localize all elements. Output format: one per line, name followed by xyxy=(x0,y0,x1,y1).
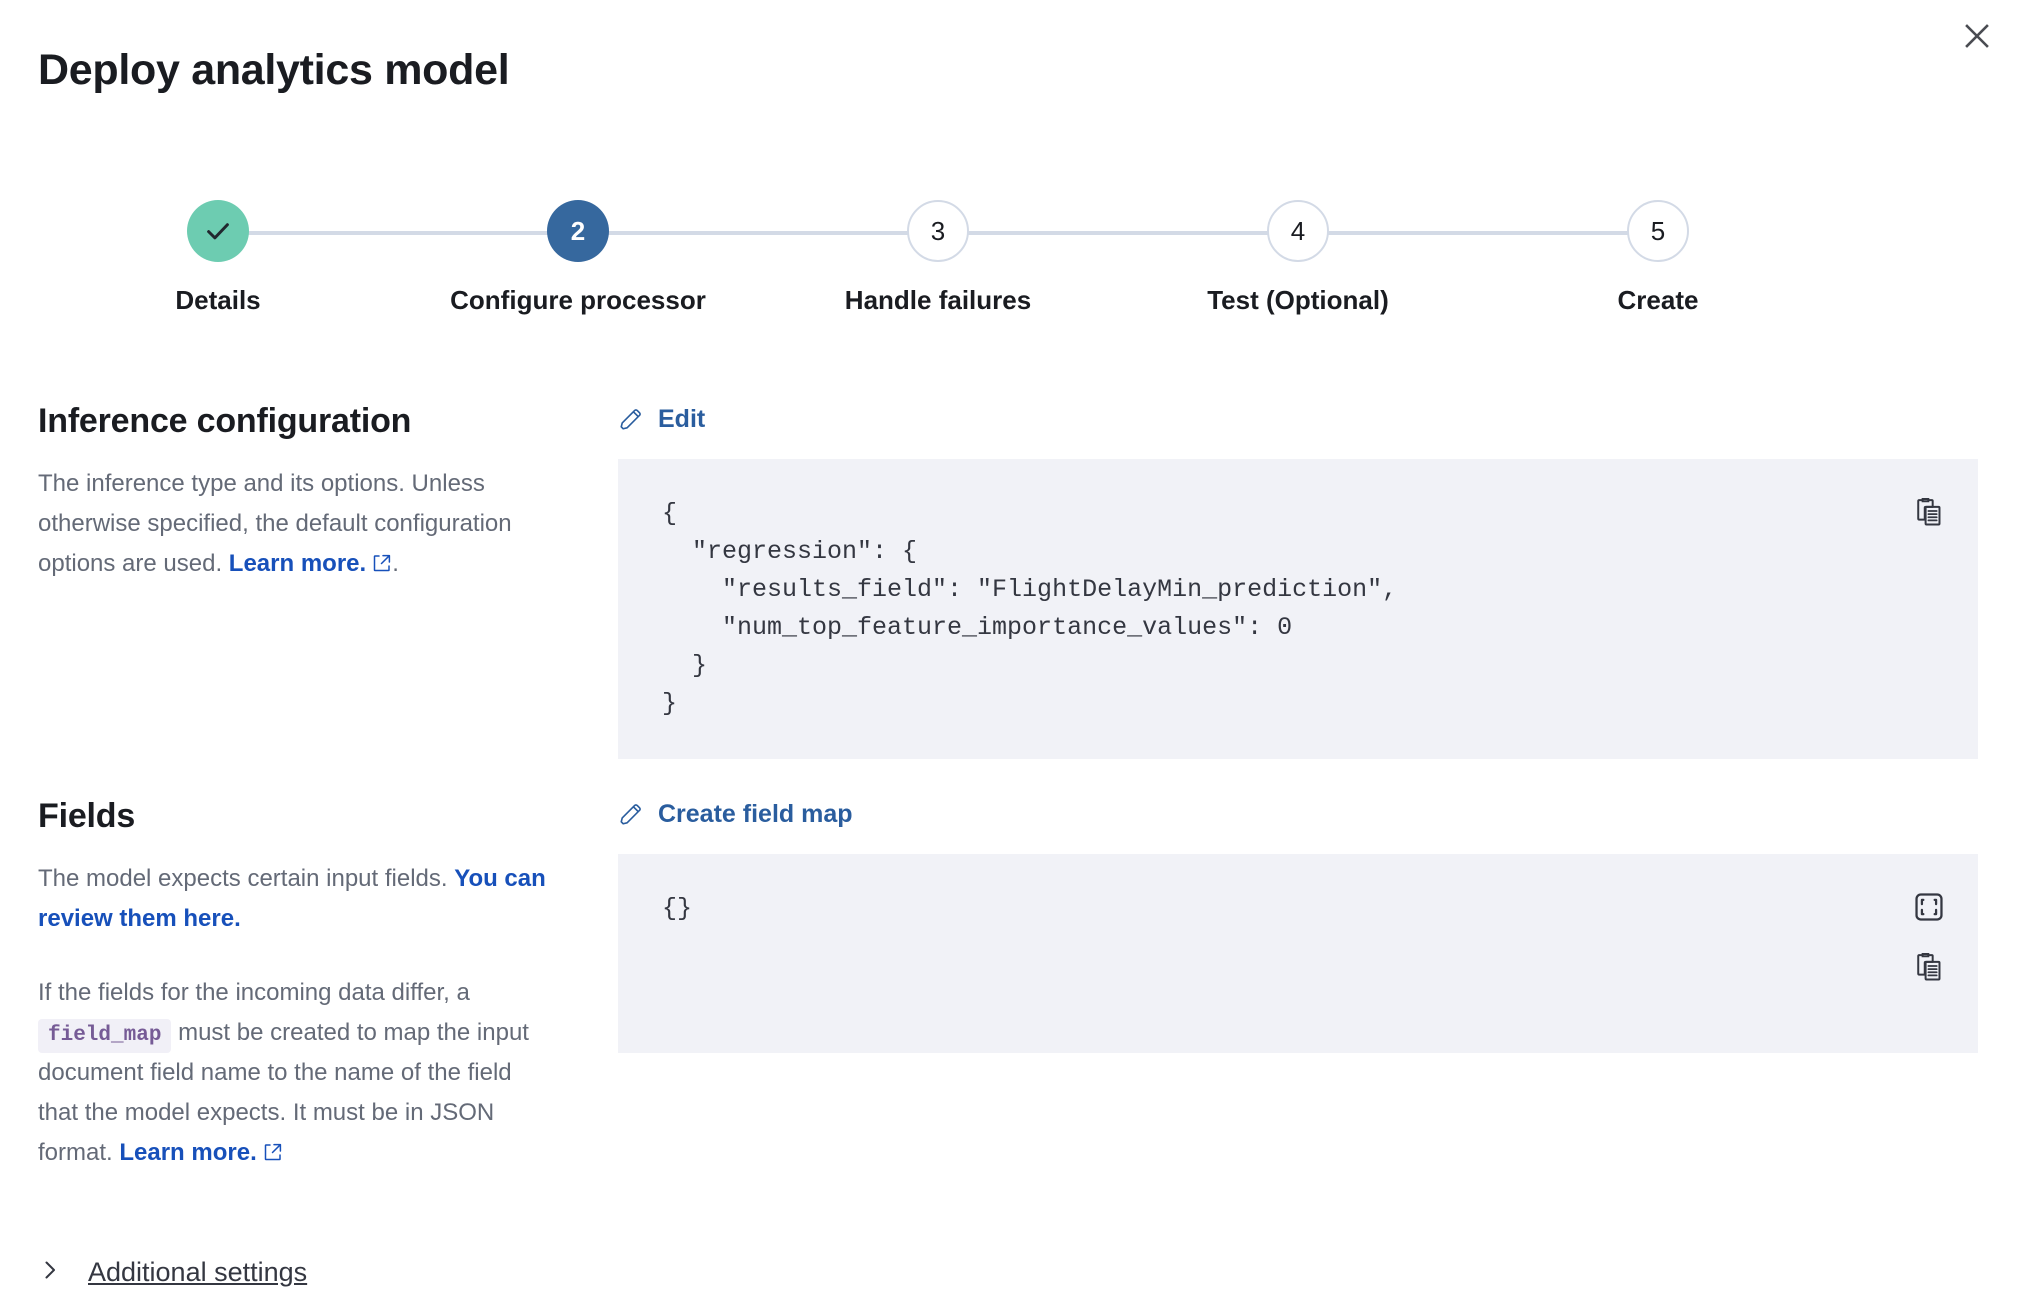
pencil-icon xyxy=(618,801,644,827)
expand-icon xyxy=(1912,890,1946,924)
inference-section-title: Inference configuration xyxy=(38,400,558,442)
step-details[interactable]: Details xyxy=(38,200,398,330)
field-map-code[interactable]: {} xyxy=(662,890,1978,928)
step-marker-1 xyxy=(187,200,249,262)
step-label-2: Configure processor xyxy=(450,284,706,316)
step-marker-4: 4 xyxy=(1267,200,1329,262)
step-label-1: Details xyxy=(175,284,260,316)
copy-icon xyxy=(1912,495,1946,529)
edit-inference-config-button[interactable]: Edit xyxy=(618,400,705,438)
additional-settings-accordion[interactable]: Additional settings xyxy=(38,1255,307,1289)
fields-section-description-1: The model expects certain input fields. … xyxy=(38,859,558,939)
field-map-code-badge: field_map xyxy=(38,1019,171,1053)
fields-editor-column: Create field map {} xyxy=(618,795,1978,1175)
pencil-icon xyxy=(618,406,644,432)
external-link-icon xyxy=(372,546,392,586)
expand-field-map-button[interactable] xyxy=(1910,888,1948,926)
external-link-icon xyxy=(263,1135,283,1175)
deploy-analytics-model-modal: Deploy analytics model Details 2 Configu… xyxy=(0,0,2017,1311)
inference-config-code[interactable]: { "regression": { "results_field": "Flig… xyxy=(662,495,1978,723)
fields-learn-more-link[interactable]: Learn more. xyxy=(119,1139,256,1166)
step-connector xyxy=(1298,231,1658,235)
step-label-3: Handle failures xyxy=(845,284,1031,316)
step-label-5: Create xyxy=(1618,284,1699,316)
inference-editor-column: Edit { "regression": { "results_field": … xyxy=(618,400,1978,759)
copy-icon xyxy=(1912,950,1946,984)
step-configure-processor[interactable]: 2 Configure processor xyxy=(398,200,758,330)
step-marker-2: 2 xyxy=(547,200,609,262)
step-handle-failures[interactable]: 3 Handle failures xyxy=(758,200,1118,330)
inference-config-code-block: { "regression": { "results_field": "Flig… xyxy=(618,459,1978,759)
wizard-stepper: Details 2 Configure processor 3 Handle f… xyxy=(38,200,1838,330)
step-create[interactable]: 5 Create xyxy=(1478,200,1838,330)
page-title: Deploy analytics model xyxy=(38,44,509,96)
create-field-map-label: Create field map xyxy=(658,798,853,830)
fields-description-column: Fields The model expects certain input f… xyxy=(38,795,618,1175)
fields-section-title: Fields xyxy=(38,795,558,837)
inference-description-column: Inference configuration The inference ty… xyxy=(38,400,618,759)
copy-inference-config-button[interactable] xyxy=(1910,493,1948,531)
inference-learn-more-link[interactable]: Learn more. xyxy=(229,550,366,577)
step-label-4: Test (Optional) xyxy=(1207,284,1389,316)
copy-field-map-button[interactable] xyxy=(1910,948,1948,986)
fields-section-description-2: If the fields for the incoming data diff… xyxy=(38,973,558,1175)
field-map-code-block: {} xyxy=(618,854,1978,1053)
chevron-right-icon xyxy=(38,1258,62,1287)
field-map-code-actions xyxy=(1910,888,1948,986)
fields-desc2-text-a: If the fields for the incoming data diff… xyxy=(38,979,470,1006)
inference-configuration-section: Inference configuration The inference ty… xyxy=(38,400,1978,759)
edit-inference-config-label: Edit xyxy=(658,403,705,435)
step-marker-3: 3 xyxy=(907,200,969,262)
create-field-map-button[interactable]: Create field map xyxy=(618,795,853,833)
close-button[interactable] xyxy=(1955,14,1999,58)
check-icon xyxy=(203,216,233,246)
step-marker-5: 5 xyxy=(1627,200,1689,262)
inference-desc-period: . xyxy=(392,550,399,577)
step-test-optional[interactable]: 4 Test (Optional) xyxy=(1118,200,1478,330)
inference-code-actions xyxy=(1910,493,1948,531)
fields-desc-text: The model expects certain input fields. xyxy=(38,865,454,892)
inference-section-description: The inference type and its options. Unle… xyxy=(38,464,558,586)
close-icon xyxy=(1964,23,1990,49)
fields-section: Fields The model expects certain input f… xyxy=(38,795,1978,1175)
additional-settings-label: Additional settings xyxy=(88,1255,307,1289)
